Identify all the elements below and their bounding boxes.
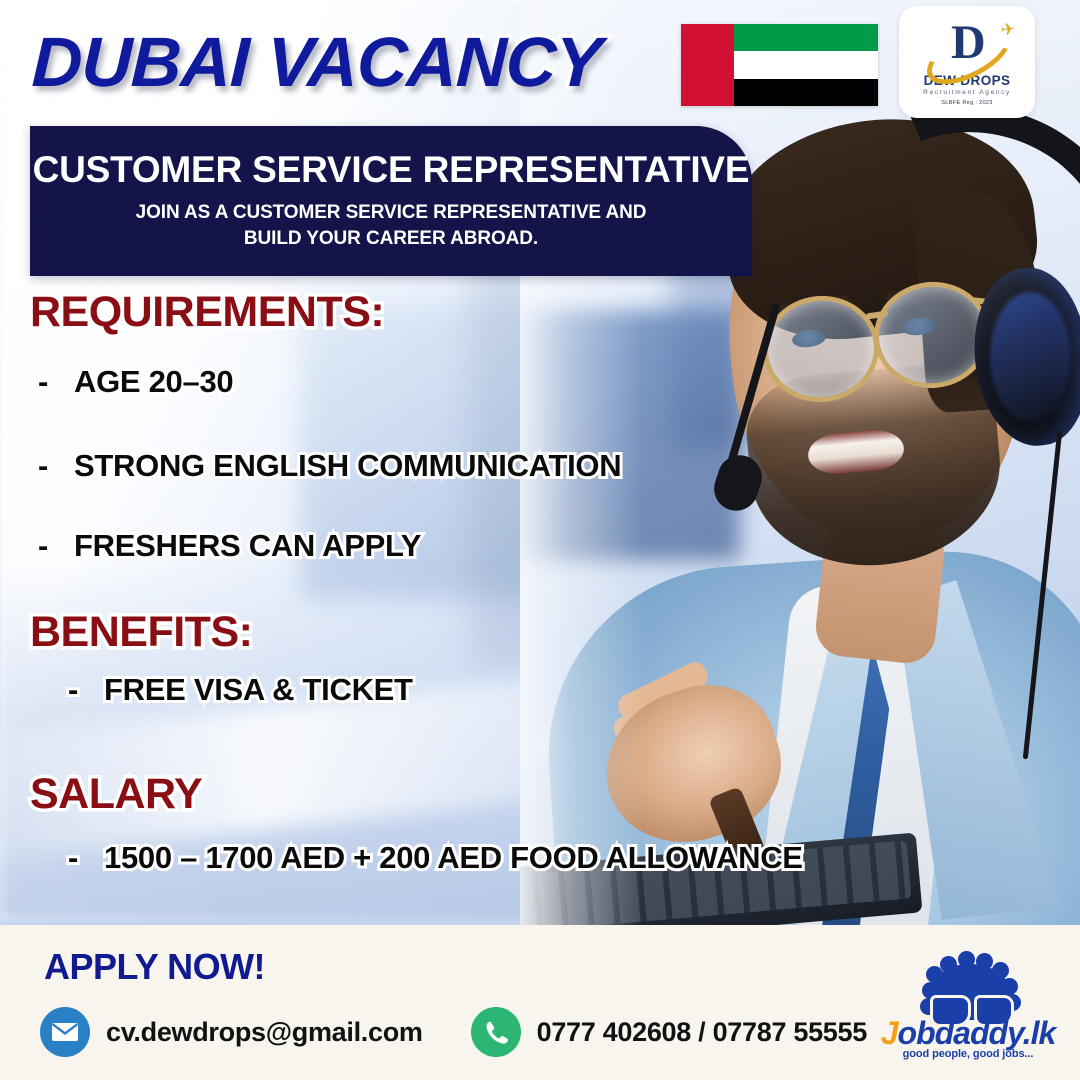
agency-subtitle: Recruitment Agency xyxy=(923,89,1011,96)
job-vacancy-poster: D ✈ DEW DROPS Recruitment Agency SLBFE R… xyxy=(0,0,1080,1080)
requirement-item: -AGE 20–30 xyxy=(38,364,233,400)
brand-initial: J xyxy=(881,1015,898,1051)
phone-number[interactable]: 0777 402608 / 07787 55555 xyxy=(537,1017,867,1048)
job-tagline: JOIN AS A CUSTOMER SERVICE REPRESENTATIV… xyxy=(136,200,647,250)
benefit-text: FREE VISA & TICKET xyxy=(104,672,413,707)
contact-row: cv.dewdrops@gmail.com 0777 402608 / 0778… xyxy=(40,1007,867,1057)
flag-stripe-green xyxy=(734,24,878,51)
hair-spike xyxy=(976,953,993,970)
dew-drops-mark: D ✈ xyxy=(921,19,1013,71)
brand-wordmark: Jobdaddy.lk xyxy=(868,1016,1068,1050)
flag-stripe-white xyxy=(734,51,878,78)
requirement-item: -STRONG ENGLISH COMMUNICATION xyxy=(38,448,621,484)
dew-drops-logo: D ✈ DEW DROPS Recruitment Agency SLBFE R… xyxy=(899,6,1035,118)
airplane-icon: ✈ xyxy=(1000,20,1016,39)
phone-icon[interactable] xyxy=(471,1007,521,1057)
page-title: DUBAI VACANCY xyxy=(31,22,603,102)
hair-spike xyxy=(992,962,1009,979)
hair-spike xyxy=(958,951,975,968)
bullet-dash: - xyxy=(68,840,78,875)
flag-band-red xyxy=(681,24,734,106)
email-address[interactable]: cv.dewdrops@gmail.com xyxy=(106,1017,423,1048)
brand-tagline: good people, good jobs... xyxy=(868,1048,1068,1060)
uae-flag-icon xyxy=(681,24,878,106)
flag-stripe-black xyxy=(734,79,878,106)
hair-spike xyxy=(940,956,957,973)
benefit-item: -FREE VISA & TICKET xyxy=(68,672,413,708)
agency-registration: SLBFE Reg : 2023 xyxy=(941,100,992,106)
bullet-dash: - xyxy=(38,528,48,563)
requirement-text: AGE 20–30 xyxy=(74,364,233,399)
salary-heading: SALARY xyxy=(30,770,202,819)
job-title-banner: CUSTOMER SERVICE REPRESENTATIVE JOIN AS … xyxy=(30,126,752,276)
email-icon[interactable] xyxy=(40,1007,90,1057)
apply-now-label: APPLY NOW! xyxy=(44,946,265,988)
salary-text: 1500 – 1700 AED + 200 AED FOOD ALLOWANCE xyxy=(104,840,803,875)
requirement-item: -FRESHERS CAN APPLY xyxy=(38,528,421,564)
jobdaddy-logo[interactable]: Jobdaddy.lk good people, good jobs... xyxy=(868,960,1068,1065)
flag-stripes xyxy=(734,24,878,106)
salary-item: -1500 – 1700 AED + 200 AED FOOD ALLOWANC… xyxy=(68,840,803,876)
benefits-heading: BENEFITS: xyxy=(30,608,252,657)
bullet-dash: - xyxy=(38,364,48,399)
requirement-text: STRONG ENGLISH COMMUNICATION xyxy=(74,448,621,483)
brand-name: obdaddy.lk xyxy=(898,1015,1056,1051)
bullet-dash: - xyxy=(68,672,78,707)
requirements-heading: REQUIREMENTS: xyxy=(30,288,384,337)
job-title: CUSTOMER SERVICE REPRESENTATIVE xyxy=(33,151,750,188)
hair-spike xyxy=(1001,978,1018,995)
job-tagline-line-1: JOIN AS A CUSTOMER SERVICE REPRESENTATIV… xyxy=(136,200,647,225)
monogram-letter: D xyxy=(951,19,986,67)
job-tagline-line-2: BUILD YOUR CAREER ABROAD. xyxy=(136,226,647,251)
bullet-dash: - xyxy=(38,448,48,483)
requirement-text: FRESHERS CAN APPLY xyxy=(74,528,421,563)
